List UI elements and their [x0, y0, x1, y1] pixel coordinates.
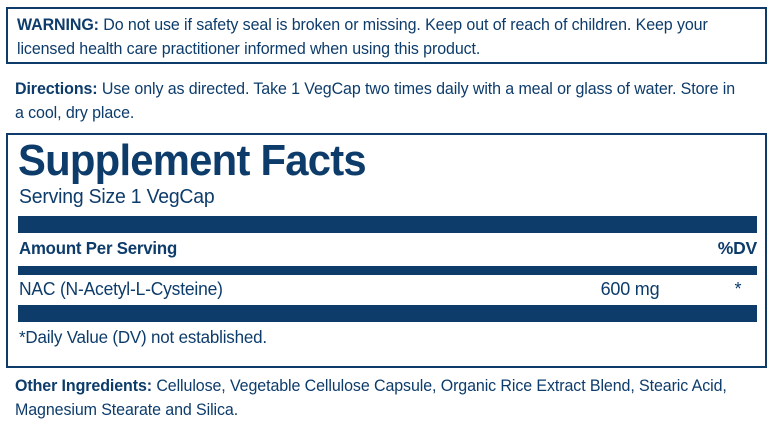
divider-bar-thick-bottom: [18, 305, 757, 322]
supplement-facts-title: Supplement Facts: [18, 137, 366, 185]
amount-per-serving-header: Amount Per Serving: [19, 235, 177, 261]
divider-bar-thin: [18, 266, 757, 275]
serving-size-text: Serving Size 1 VegCap: [19, 185, 214, 209]
nutrient-percent-dv: *: [708, 276, 768, 302]
daily-value-footnote: *Daily Value (DV) not established.: [19, 325, 267, 349]
warning-heading: WARNING:: [17, 16, 99, 34]
directions-text: Directions: Use only as directed. Take 1…: [15, 77, 736, 125]
directions-body: Use only as directed. Take 1 VegCap two …: [15, 80, 735, 122]
other-ingredients-section: Other Ingredients: Cellulose, Vegetable …: [6, 372, 767, 426]
table-header-row: Amount Per Serving %DV: [18, 235, 757, 263]
other-ingredients-heading: Other Ingredients:: [15, 377, 152, 395]
percent-dv-header: %DV: [718, 235, 757, 261]
directions-section: Directions: Use only as directed. Take 1…: [6, 72, 767, 128]
directions-heading: Directions:: [15, 80, 98, 98]
divider-bar-thick-top: [18, 216, 757, 233]
nutrient-amount: 600 mg: [585, 276, 675, 302]
supplement-facts-panel: Supplement Facts Serving Size 1 VegCap A…: [6, 133, 767, 368]
table-row: NAC (N-Acetyl-L-Cysteine) 600 mg *: [18, 276, 757, 304]
other-ingredients-text: Other Ingredients: Cellulose, Vegetable …: [15, 374, 736, 422]
warning-text: WARNING: Do not use if safety seal is br…: [17, 13, 734, 61]
nutrient-name: NAC (N-Acetyl-L-Cysteine): [19, 276, 223, 302]
supplement-facts-inner: Supplement Facts Serving Size 1 VegCap A…: [18, 135, 755, 366]
supplement-facts-label: WARNING: Do not use if safety seal is br…: [0, 0, 773, 428]
warning-box: WARNING: Do not use if safety seal is br…: [6, 7, 767, 64]
warning-body: Do not use if safety seal is broken or m…: [17, 16, 708, 58]
